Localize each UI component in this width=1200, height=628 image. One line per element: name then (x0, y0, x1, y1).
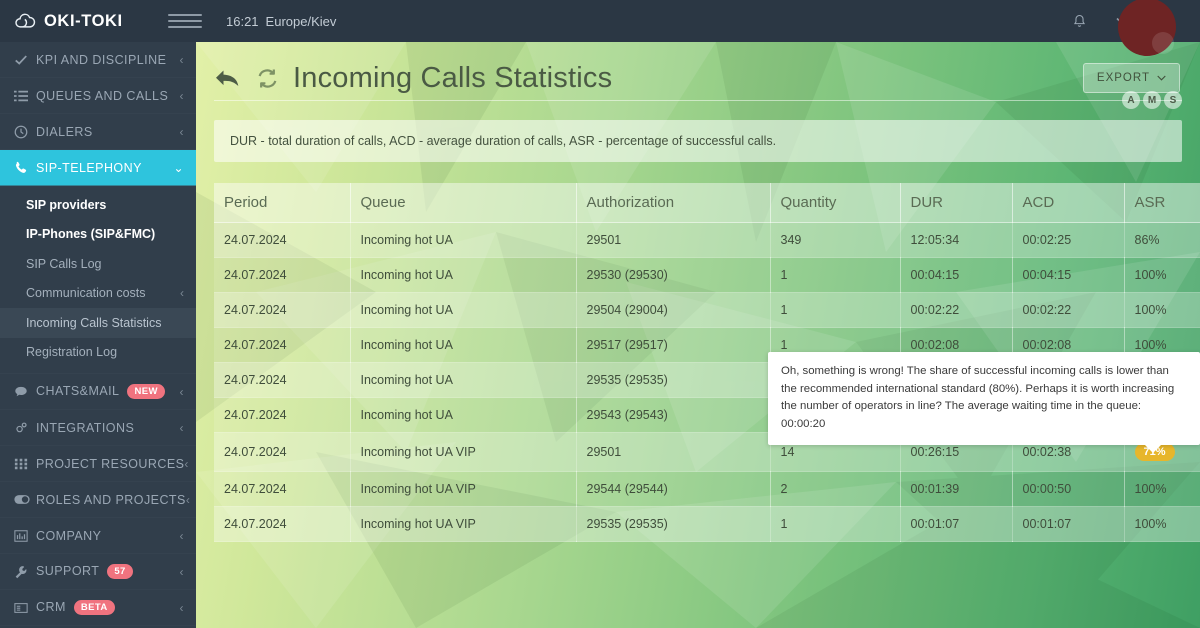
cell-asr: 100% (1124, 293, 1200, 328)
column-header-asr[interactable]: ASR (1124, 183, 1200, 223)
cloud-icon (14, 12, 36, 30)
sidebar-item-kpi-and-discipline[interactable]: KPI AND DISCIPLINE ‹ (0, 42, 196, 78)
header-divider: A M S (214, 100, 1182, 101)
hamburger-icon[interactable] (168, 14, 202, 28)
cell-asr: 100% (1124, 507, 1200, 542)
cell-queue: Incoming hot UA VIP (350, 433, 576, 472)
bell-icon[interactable] (1056, 13, 1102, 30)
sidebar-subitem-label: Registration Log (26, 345, 117, 359)
refresh-icon[interactable] (256, 67, 279, 90)
chevron-left-icon: ‹ (184, 458, 188, 470)
sidebar-subitem-ip-phones[interactable]: IP-Phones (SIP&FMC) (0, 220, 196, 250)
check-icon (14, 53, 36, 67)
asr-warning-tooltip: Oh, something is wrong! The share of suc… (768, 352, 1200, 445)
sidebar-subitem-incoming-calls-statistics[interactable]: Incoming Calls Statistics (0, 308, 196, 338)
export-label: EXPORT (1097, 72, 1150, 84)
cell-acd: 00:01:07 (1012, 507, 1124, 542)
sidebar-item-integrations[interactable]: INTEGRATIONS ‹ (0, 410, 196, 446)
sidebar-item-sip-telephony[interactable]: SIP-TELEPHONY ⌄ (0, 150, 196, 186)
chevron-left-icon: ‹ (180, 126, 184, 138)
export-button[interactable]: EXPORT (1083, 63, 1180, 93)
cell-period: 24.07.2024 (214, 507, 350, 542)
table-row[interactable]: 24.07.2024 Incoming hot UA 29501 349 12:… (214, 223, 1200, 258)
cell-dur: 00:01:39 (900, 472, 1012, 507)
top-bar: OKI-TOKI 16:21Europe/Kiev (0, 0, 1200, 42)
main-content: Incoming Calls Statistics EXPORT A M S (196, 42, 1200, 628)
chevron-left-icon: ‹ (180, 54, 184, 66)
grid-icon (14, 457, 36, 471)
sidebar-subitem-label: IP-Phones (SIP&FMC) (26, 227, 155, 241)
cell-dur: 12:05:34 (900, 223, 1012, 258)
sidebar-label: QUEUES AND CALLS (36, 89, 180, 103)
cell-queue: Incoming hot UA (350, 258, 576, 293)
cell-quantity: 349 (770, 223, 900, 258)
card-icon (14, 601, 36, 615)
wrench-icon (14, 565, 36, 579)
table-row[interactable]: 24.07.2024 Incoming hot UA 29504 (29004)… (214, 293, 1200, 328)
cell-period: 24.07.2024 (214, 472, 350, 507)
chevron-left-icon: ‹ (180, 422, 184, 434)
chevron-left-icon: ‹ (180, 530, 184, 542)
cell-quantity: 1 (770, 507, 900, 542)
column-header-authorization[interactable]: Authorization (576, 183, 770, 223)
cell-authorization: 29501 (576, 433, 770, 472)
body: KPI AND DISCIPLINE ‹ QUEUES AND CALLS ‹ (0, 42, 1200, 628)
cell-queue: Incoming hot UA (350, 363, 576, 398)
cell-queue: Incoming hot UA (350, 398, 576, 433)
page-title: Incoming Calls Statistics (293, 64, 612, 93)
cell-period: 24.07.2024 (214, 398, 350, 433)
page-header: Incoming Calls Statistics EXPORT (196, 42, 1200, 100)
chevron-left-icon: ‹ (180, 90, 184, 102)
cell-quantity: 1 (770, 293, 900, 328)
cell-period: 24.07.2024 (214, 223, 350, 258)
sidebar-label: PROJECT RESOURCES (36, 457, 184, 471)
cell-dur: 00:02:22 (900, 293, 1012, 328)
gears-icon (14, 421, 36, 435)
cell-authorization: 29501 (576, 223, 770, 258)
back-arrow-icon[interactable] (214, 66, 242, 90)
sidebar-label: DIALERS (36, 125, 180, 139)
chevron-left-icon: ‹ (180, 386, 184, 398)
cell-queue: Incoming hot UA (350, 223, 576, 258)
cell-acd: 00:00:50 (1012, 472, 1124, 507)
sidebar-subitem-label: Communication costs (26, 286, 146, 300)
sidebar-subitem-label: Incoming Calls Statistics (26, 316, 161, 330)
clock: 16:21Europe/Kiev (226, 14, 336, 29)
cell-queue: Incoming hot UA VIP (350, 472, 576, 507)
toggle-icon (14, 494, 36, 505)
cell-queue: Incoming hot UA (350, 293, 576, 328)
cell-dur: 00:01:07 (900, 507, 1012, 542)
sidebar-label: ROLES AND PROJECTS (36, 493, 186, 507)
cell-period: 24.07.2024 (214, 258, 350, 293)
clock-icon (14, 125, 36, 139)
table-row[interactable]: 24.07.2024 Incoming hot UA VIP 29535 (29… (214, 507, 1200, 542)
brand[interactable]: OKI-TOKI (0, 12, 196, 31)
sidebar-item-crm[interactable]: CRMBETA ‹ (0, 590, 196, 626)
cell-acd: 00:04:15 (1012, 258, 1124, 293)
sidebar-item-roles-and-projects[interactable]: ROLES AND PROJECTS ‹ (0, 482, 196, 518)
sidebar-submenu-sip-telephony: SIP providers IP-Phones (SIP&FMC) SIP Ca… (0, 186, 196, 374)
table-row[interactable]: 24.07.2024 Incoming hot UA VIP 29544 (29… (214, 472, 1200, 507)
column-header-acd[interactable]: ACD (1012, 183, 1124, 223)
sidebar-label-text: SUPPORT (36, 564, 99, 578)
cell-authorization: 29504 (29004) (576, 293, 770, 328)
sidebar-subitem-sip-providers[interactable]: SIP providers (0, 190, 196, 220)
table-head: Period Queue Authorization Quantity DUR … (214, 183, 1200, 223)
sidebar-label: COMPANY (36, 529, 180, 543)
cell-queue: Incoming hot UA (350, 328, 576, 363)
sidebar-label: KPI AND DISCIPLINE (36, 53, 180, 67)
cell-asr: 100% (1124, 472, 1200, 507)
clock-timezone: Europe/Kiev (266, 14, 337, 29)
cell-acd: 00:02:25 (1012, 223, 1124, 258)
brand-name: OKI-TOKI (44, 12, 123, 31)
sidebar-subitem-label: SIP providers (26, 198, 106, 212)
avatar[interactable] (1118, 0, 1176, 56)
cell-dur: 00:04:15 (900, 258, 1012, 293)
chip-a[interactable]: A (1122, 91, 1140, 109)
role-chips: A M S (1122, 91, 1182, 109)
cell-quantity: 2 (770, 472, 900, 507)
cell-authorization: 29530 (29530) (576, 258, 770, 293)
cell-authorization: 29543 (29543) (576, 398, 770, 433)
chevron-down-icon (1157, 72, 1166, 84)
main-inner: Incoming Calls Statistics EXPORT A M S (196, 42, 1200, 628)
chat-icon (14, 385, 36, 399)
chevron-down-icon: ⌄ (173, 162, 184, 174)
sidebar-item-dialers[interactable]: DIALERS ‹ (0, 114, 196, 150)
sidebar-item-support[interactable]: SUPPORT57 ‹ (0, 554, 196, 590)
chip-s[interactable]: S (1164, 91, 1182, 109)
sidebar-label-text: CRM (36, 600, 66, 614)
sidebar-item-company[interactable]: COMPANY ‹ (0, 518, 196, 554)
table-row[interactable]: 24.07.2024 Incoming hot UA 29530 (29530)… (214, 258, 1200, 293)
app-root: OKI-TOKI 16:21Europe/Kiev (0, 0, 1200, 628)
phone-icon (14, 161, 36, 175)
table-header-row: Period Queue Authorization Quantity DUR … (214, 183, 1200, 223)
sidebar-subitem-registration-log[interactable]: Registration Log (0, 338, 196, 368)
sidebar-label: SUPPORT57 (36, 564, 180, 579)
cell-period: 24.07.2024 (214, 328, 350, 363)
cell-authorization: 29517 (29517) (576, 328, 770, 363)
cell-authorization: 29535 (29535) (576, 363, 770, 398)
column-header-queue[interactable]: Queue (350, 183, 576, 223)
cell-period: 24.07.2024 (214, 363, 350, 398)
cell-authorization: 29544 (29544) (576, 472, 770, 507)
status-badge-beta: BETA (74, 600, 115, 615)
sidebar-item-project-resources[interactable]: PROJECT RESOURCES ‹ (0, 446, 196, 482)
sidebar-label: CRMBETA (36, 600, 180, 615)
sidebar-item-chats-and-mail[interactable]: CHATS&MAILNEW ‹ (0, 374, 196, 410)
sidebar-subitem-label: SIP Calls Log (26, 257, 102, 271)
cell-queue: Incoming hot UA VIP (350, 507, 576, 542)
sidebar-label-text: CHATS&MAIL (36, 384, 119, 398)
sidebar-item-queues-and-calls[interactable]: QUEUES AND CALLS ‹ (0, 78, 196, 114)
cell-asr: 100% (1124, 258, 1200, 293)
column-header-dur[interactable]: DUR (900, 183, 1012, 223)
sidebar-label: CHATS&MAILNEW (36, 384, 180, 399)
chip-m[interactable]: M (1143, 91, 1161, 109)
chevron-left-icon: ‹ (180, 566, 184, 578)
cell-acd: 00:02:22 (1012, 293, 1124, 328)
topbar-right (1056, 0, 1200, 50)
clock-time: 16:21 (226, 14, 259, 29)
status-badge-support-count: 57 (107, 564, 132, 579)
sidebar-subitem-communication-costs[interactable]: Communication costs ‹ (0, 279, 196, 309)
status-badge-new: NEW (127, 384, 164, 399)
cell-period: 24.07.2024 (214, 433, 350, 472)
stats-table-wrapper: Period Queue Authorization Quantity DUR … (214, 183, 1182, 542)
chevron-left-icon: ‹ (180, 602, 184, 614)
chevron-left-icon: ‹ (186, 494, 190, 506)
info-box: DUR - total duration of calls, ACD - ave… (214, 120, 1182, 162)
cell-asr: 86% (1124, 223, 1200, 258)
chevron-left-icon: ‹ (180, 286, 184, 300)
cell-period: 24.07.2024 (214, 293, 350, 328)
column-header-quantity[interactable]: Quantity (770, 183, 900, 223)
cell-authorization: 29535 (29535) (576, 507, 770, 542)
sidebar-label: SIP-TELEPHONY (36, 161, 173, 175)
sidebar-subitem-sip-calls-log[interactable]: SIP Calls Log (0, 249, 196, 279)
cell-quantity: 1 (770, 258, 900, 293)
list-icon (14, 89, 36, 103)
sidebar-label: INTEGRATIONS (36, 421, 180, 435)
bar-chart-icon (14, 529, 36, 543)
sidebar: KPI AND DISCIPLINE ‹ QUEUES AND CALLS ‹ (0, 42, 196, 628)
column-header-period[interactable]: Period (214, 183, 350, 223)
